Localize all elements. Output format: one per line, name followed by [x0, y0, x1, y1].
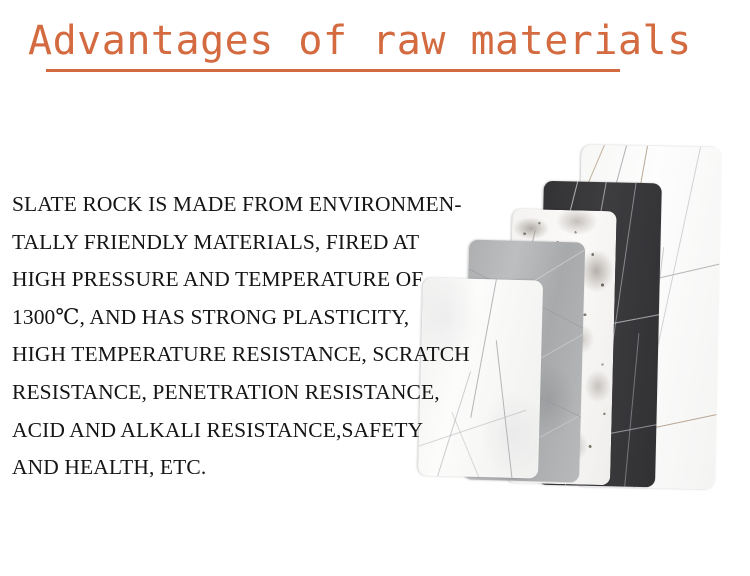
- paragraph-line: 1300℃, AND HAS STRONG PLASTICITY,: [12, 299, 512, 337]
- paragraph-line: TALLY FRIENDLY MATERIALS, FIRED AT: [12, 224, 512, 262]
- slab-vein: [623, 333, 640, 487]
- paragraph-line: HIGH TEMPERATURE RESISTANCE, SCRATCH: [12, 336, 512, 374]
- paragraph-line: ACID AND ALKALI RESISTANCE,SAFETY: [12, 412, 512, 450]
- paragraph-line: RESISTANCE, PENETRATION RESISTANCE,: [12, 374, 512, 412]
- paragraph-line: AND HEALTH, ETC.: [12, 449, 512, 487]
- paragraph-line: SLATE ROCK IS MADE FROM ENVIRONMEN-: [12, 186, 512, 224]
- paragraph-line: HIGH PRESSURE AND TEMPERATURE OF: [12, 261, 512, 299]
- description-paragraph: SLATE ROCK IS MADE FROM ENVIRONMEN- TALL…: [12, 186, 512, 487]
